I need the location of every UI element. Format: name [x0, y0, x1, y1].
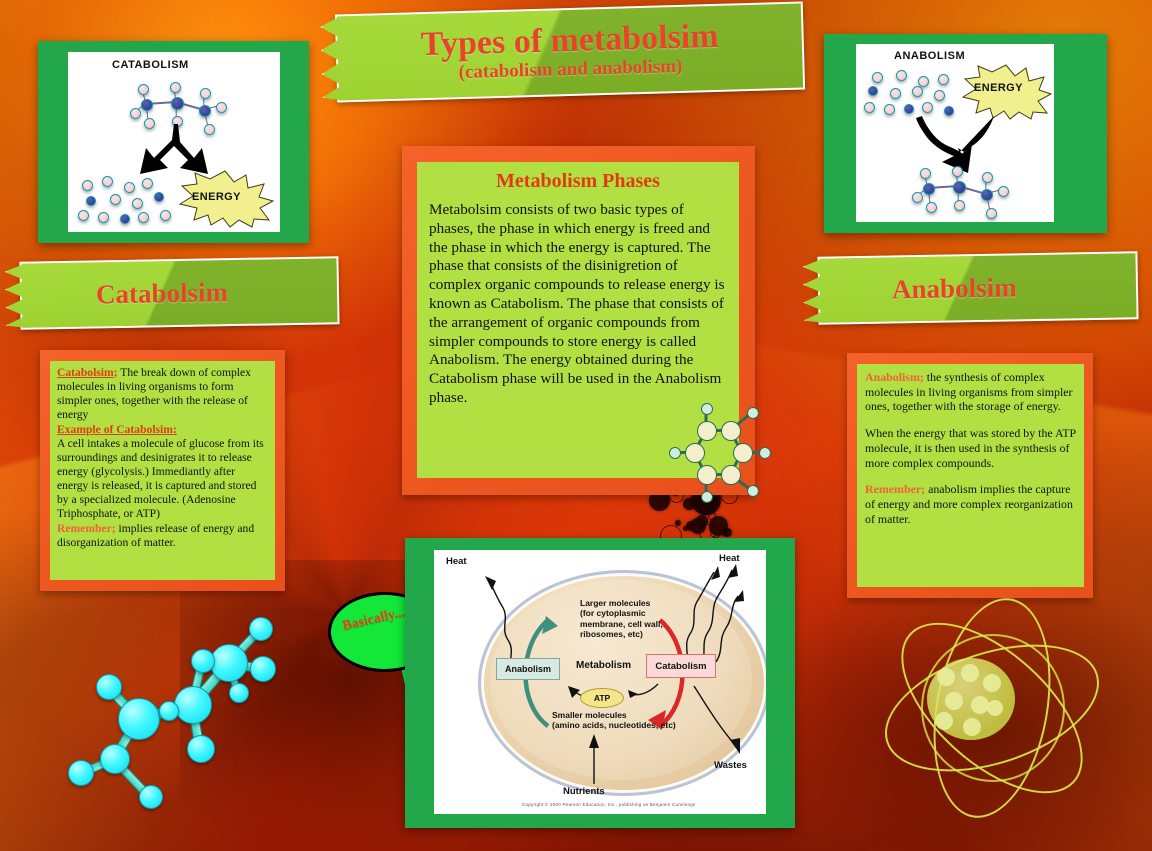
- metabolism-poster: CATABOLISM ENERGY ANABOLISM ENERGY: [0, 0, 1152, 851]
- anabolism-illustration: ANABOLISM ENERGY: [856, 44, 1054, 222]
- metabolism-diagram-label: Metabolism: [576, 660, 631, 671]
- heat-label-left: Heat: [446, 556, 467, 567]
- split-arrow-icon: [116, 124, 236, 176]
- large-molecule-graphic: [904, 164, 1012, 216]
- metabolism-phases-title: Metabolism Phases: [429, 170, 727, 193]
- smaller-molecules-label: Smaller molecules (amino acids, nucleoti…: [552, 710, 676, 731]
- nutrients-arrow-icon: [584, 732, 604, 786]
- small-molecules-graphic: [76, 174, 172, 226]
- anabolism-remember-label: Remember;: [865, 482, 925, 496]
- metabolism-phases-body: Metabolsim consists of two basic types o…: [429, 201, 727, 407]
- catabolism-remember-paragraph: Remember; implies release of energy and …: [57, 522, 268, 550]
- metabolism-cell-diagram-frame: Heat Heat Larger molecul: [405, 538, 795, 828]
- glucose-molecule-graphic: [60, 600, 310, 800]
- nutrients-label: Nutrients: [563, 786, 605, 797]
- page-subtitle: (catabolism and anabolism): [458, 56, 682, 83]
- diagram-copyright: Copyright © 2000 Pearson Education, Inc.…: [522, 802, 696, 807]
- catabolism-header-label: Catabolsim: [96, 277, 229, 310]
- anabolism-term: Anabolism: [865, 370, 920, 384]
- anabolism-paragraph-two: When the energy that was stored by the A…: [865, 426, 1076, 470]
- larger-molecules-label: Larger molecules (for cytoplasmic membra…: [580, 598, 663, 639]
- heat-label-right: Heat: [719, 553, 740, 564]
- large-molecule-graphic: [124, 78, 234, 130]
- catabolism-remember-label: Remember;: [57, 522, 116, 535]
- anabolism-section-banner: Anabolsim: [817, 251, 1138, 325]
- catabolism-example-heading: Example of Catabolsim:: [57, 423, 268, 437]
- anabolism-remember-paragraph: Remember; anabolism implies the capture …: [865, 482, 1076, 526]
- metabolism-cell-diagram: Heat Heat Larger molecul: [434, 550, 766, 814]
- wastes-label: Wastes: [714, 760, 747, 771]
- anabolism-image-caption: ANABOLISM: [894, 50, 965, 62]
- anabolism-energy-label: ENERGY: [974, 82, 1023, 94]
- poster-title-banner: Types of metabolsim (catabolism and anab…: [335, 1, 805, 102]
- catabolism-definition-paragraph: Catabolsim; The break down of complex mo…: [57, 366, 268, 422]
- anabolism-diagram-box: Anabolism: [496, 658, 560, 680]
- catabolism-image-caption: CATABOLISM: [112, 59, 189, 71]
- anabolism-illustration-frame: ANABOLISM ENERGY: [824, 34, 1107, 233]
- catabolism-illustration-frame: CATABOLISM ENERGY: [38, 41, 309, 243]
- organic-molecule-graphic: [668, 400, 778, 510]
- catabolism-term: Catabolsim: [57, 366, 114, 379]
- atp-label: ATP: [580, 688, 624, 708]
- wastes-arrow-icon: [690, 682, 752, 758]
- catabolism-note-card: Catabolsim; The break down of complex mo…: [40, 350, 285, 591]
- catabolism-illustration: CATABOLISM ENERGY: [68, 52, 280, 232]
- anabolism-note-card: Anabolism; the synthesis of complex mole…: [847, 353, 1093, 598]
- catabolism-energy-label: ENERGY: [192, 191, 241, 203]
- anabolism-header-label: Anabolsim: [892, 272, 1017, 305]
- anabolism-definition-paragraph: Anabolism; the synthesis of complex mole…: [865, 370, 1076, 414]
- catabolism-example-body: A cell intakes a molecule of glucose fro…: [57, 437, 268, 521]
- atom-orbit-graphic: [875, 600, 1105, 815]
- catabolism-section-banner: Catabolsim: [19, 256, 339, 330]
- catabolism-diagram-box: Catabolism: [646, 654, 716, 678]
- small-molecules-graphic: [864, 68, 960, 118]
